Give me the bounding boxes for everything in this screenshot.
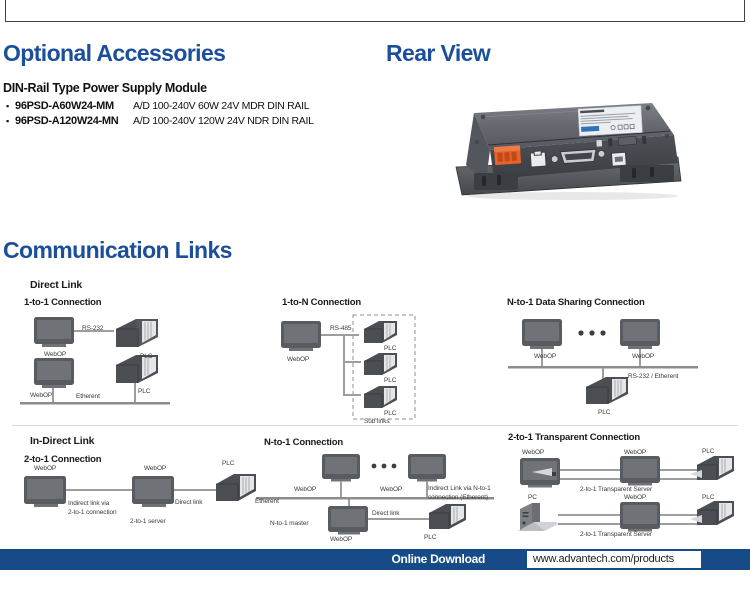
- label-webop: WebOP: [144, 465, 166, 472]
- label-webop: WebOP: [330, 536, 352, 543]
- accessory-list: ▪ 96PSD-A60W24-MM A/D 100-240V 60W 24V M…: [3, 99, 353, 129]
- label-plc: PLC: [598, 409, 610, 416]
- label-plc: PLC: [138, 388, 150, 395]
- label-webop: WebOP: [624, 494, 646, 501]
- comm-panel-divider: [12, 425, 738, 426]
- n-to-1-sharing-title: N-to-1 Data Sharing Connection: [507, 297, 645, 308]
- panel-cutout-box: Panel Cutout Dimensions: 175 x 132.5 mm …: [5, 0, 745, 22]
- label-transparent-server: 2-to-1 Transparent Server: [580, 486, 652, 493]
- indirect-note-line1: Indirect link via: [68, 500, 109, 507]
- two-to-one-title: 2-to-1 Connection: [24, 454, 101, 465]
- heading-rear-view: Rear View: [386, 40, 490, 67]
- label-pc: PC: [528, 494, 537, 501]
- label-rs232: RS-232: [82, 325, 103, 332]
- label-etherent: Etherent: [76, 393, 100, 400]
- accessory-code: 96PSD-A60W24-MM: [15, 100, 133, 112]
- label-plc: PLC: [702, 494, 714, 501]
- label-rs232-etherent: RS-232 / Etherent: [628, 373, 678, 380]
- label-webop: WebOP: [44, 351, 66, 358]
- bullet-icon: ▪: [3, 114, 15, 129]
- one-to-n-title: 1-to-N Connection: [282, 297, 361, 308]
- label-webop: WebOP: [380, 486, 402, 493]
- label-webop: WebOP: [34, 465, 56, 472]
- label-n-to-1-note: Indirect Link via N-to-1 connection (Eth…: [428, 484, 491, 502]
- datasheet-page: Panel Cutout Dimensions: 175 x 132.5 mm …: [0, 0, 750, 591]
- footer-online-download-label: Online Download: [392, 552, 486, 566]
- heading-optional-accessories: Optional Accessories: [3, 40, 225, 67]
- label-plc: PLC: [140, 353, 152, 360]
- label-webop: WebOP: [534, 353, 556, 360]
- label-rs485: RS-485: [330, 325, 351, 332]
- heading-communication-links: Communication Links: [3, 237, 232, 264]
- label-n-to-1-master: N-to-1 master: [270, 520, 308, 527]
- label-plc: PLC: [702, 448, 714, 455]
- label-plc: PLC: [384, 345, 396, 352]
- label-plc: PLC: [384, 377, 396, 384]
- label-webop: WebOP: [624, 449, 646, 456]
- rear-view-product-image: [452, 95, 684, 210]
- accessory-description: A/D 100-240V 120W 24V NDR DIN RAIL: [133, 115, 314, 127]
- label-2to1-server: 2-to-1 server: [130, 518, 166, 525]
- label-webop: WebOP: [522, 449, 544, 456]
- label-plc: PLC: [222, 460, 234, 467]
- n-to-1-title: N-to-1 Connection: [264, 437, 343, 448]
- accessory-group-title: DIN-Rail Type Power Supply Module: [3, 81, 207, 95]
- n-to-1-note-line1: Indirect Link via N-to-1: [428, 485, 491, 492]
- direct-link-panel: Direct Link 1-to-1 Connection: [12, 273, 738, 425]
- indirect-link-panel: In-Direct Link 2-to-1 Connection: [12, 432, 738, 537]
- one-to-one-title: 1-to-1 Connection: [24, 297, 101, 308]
- accessory-code: 96PSD-A120W24-MN: [15, 115, 133, 127]
- accessory-description: A/D 100-240V 60W 24V MDR DIN RAIL: [133, 100, 309, 112]
- label-direct-link: Direct link: [372, 510, 399, 517]
- direct-link-title: Direct Link: [30, 279, 82, 291]
- n-to-1-note-line2: connection (Etherent): [428, 494, 488, 501]
- label-plc: PLC: [384, 410, 396, 417]
- label-webop: WebOP: [30, 392, 52, 399]
- label-plc: PLC: [424, 534, 436, 541]
- two-to-one-transparent-diagram: [502, 448, 742, 538]
- list-item: ▪ 96PSD-A120W24-MN A/D 100-240V 120W 24V…: [3, 114, 353, 129]
- label-webop: WebOP: [632, 353, 654, 360]
- label-direct-link: Direct link: [175, 499, 202, 506]
- list-item: ▪ 96PSD-A60W24-MM A/D 100-240V 60W 24V M…: [3, 99, 353, 114]
- label-sub-links: Sub links: [364, 418, 389, 425]
- label-indirect-note: Indirect link via 2-to-1 connection: [68, 499, 117, 517]
- label-etherent: Etherent: [255, 498, 279, 505]
- two-to-one-transparent-title: 2-to-1 Transparent Connection: [508, 432, 640, 443]
- label-webop: WebOP: [294, 486, 316, 493]
- footer-url-text[interactable]: www.advantech.com/products: [533, 553, 674, 565]
- label-transparent-server: 2-to-1 Transparent Server: [580, 531, 652, 538]
- label-webop: WebOP: [287, 356, 309, 363]
- n-to-1-sharing-diagram: [502, 313, 712, 421]
- bullet-icon: ▪: [3, 99, 15, 114]
- indirect-link-title: In-Direct Link: [30, 435, 94, 447]
- indirect-note-line2: 2-to-1 connection: [68, 509, 117, 516]
